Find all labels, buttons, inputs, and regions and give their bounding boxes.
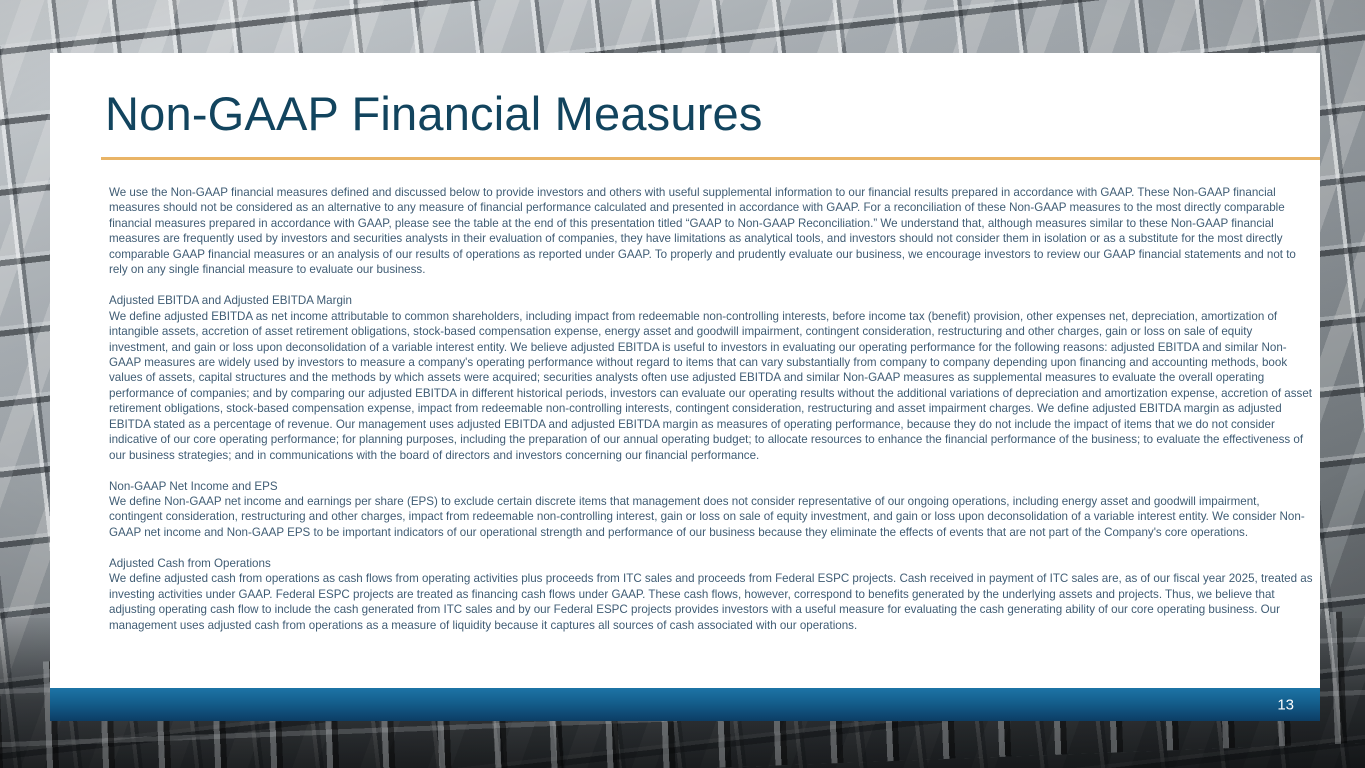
section-heading: Non-GAAP Net Income and EPS [109, 479, 1314, 494]
section-heading: Adjusted EBITDA and Adjusted EBITDA Marg… [109, 293, 1314, 308]
section-adjusted-ebitda: Adjusted EBITDA and Adjusted EBITDA Marg… [109, 293, 1314, 463]
slide-footer-bar: 13 [50, 688, 1320, 721]
section-body: We define adjusted cash from operations … [109, 571, 1314, 633]
page-title: Non-GAAP Financial Measures [105, 89, 763, 138]
slide-body-text: We use the Non-GAAP financial measures d… [109, 185, 1314, 633]
section-non-gaap-net-income-eps: Non-GAAP Net Income and EPS We define No… [109, 479, 1314, 541]
section-heading: Adjusted Cash from Operations [109, 556, 1314, 571]
section-body: We define adjusted EBITDA as net income … [109, 309, 1314, 464]
page-number: 13 [1277, 697, 1294, 712]
intro-block: We use the Non-GAAP financial measures d… [109, 185, 1314, 278]
presentation-slide: Non-GAAP Financial Measures We use the N… [0, 0, 1365, 768]
slide-content-card: Non-GAAP Financial Measures We use the N… [50, 53, 1320, 688]
section-adjusted-cash-from-operations: Adjusted Cash from Operations We define … [109, 556, 1314, 633]
section-body: We define Non-GAAP net income and earnin… [109, 494, 1314, 540]
title-accent-rule [101, 157, 1320, 160]
intro-paragraph: We use the Non-GAAP financial measures d… [109, 185, 1314, 278]
